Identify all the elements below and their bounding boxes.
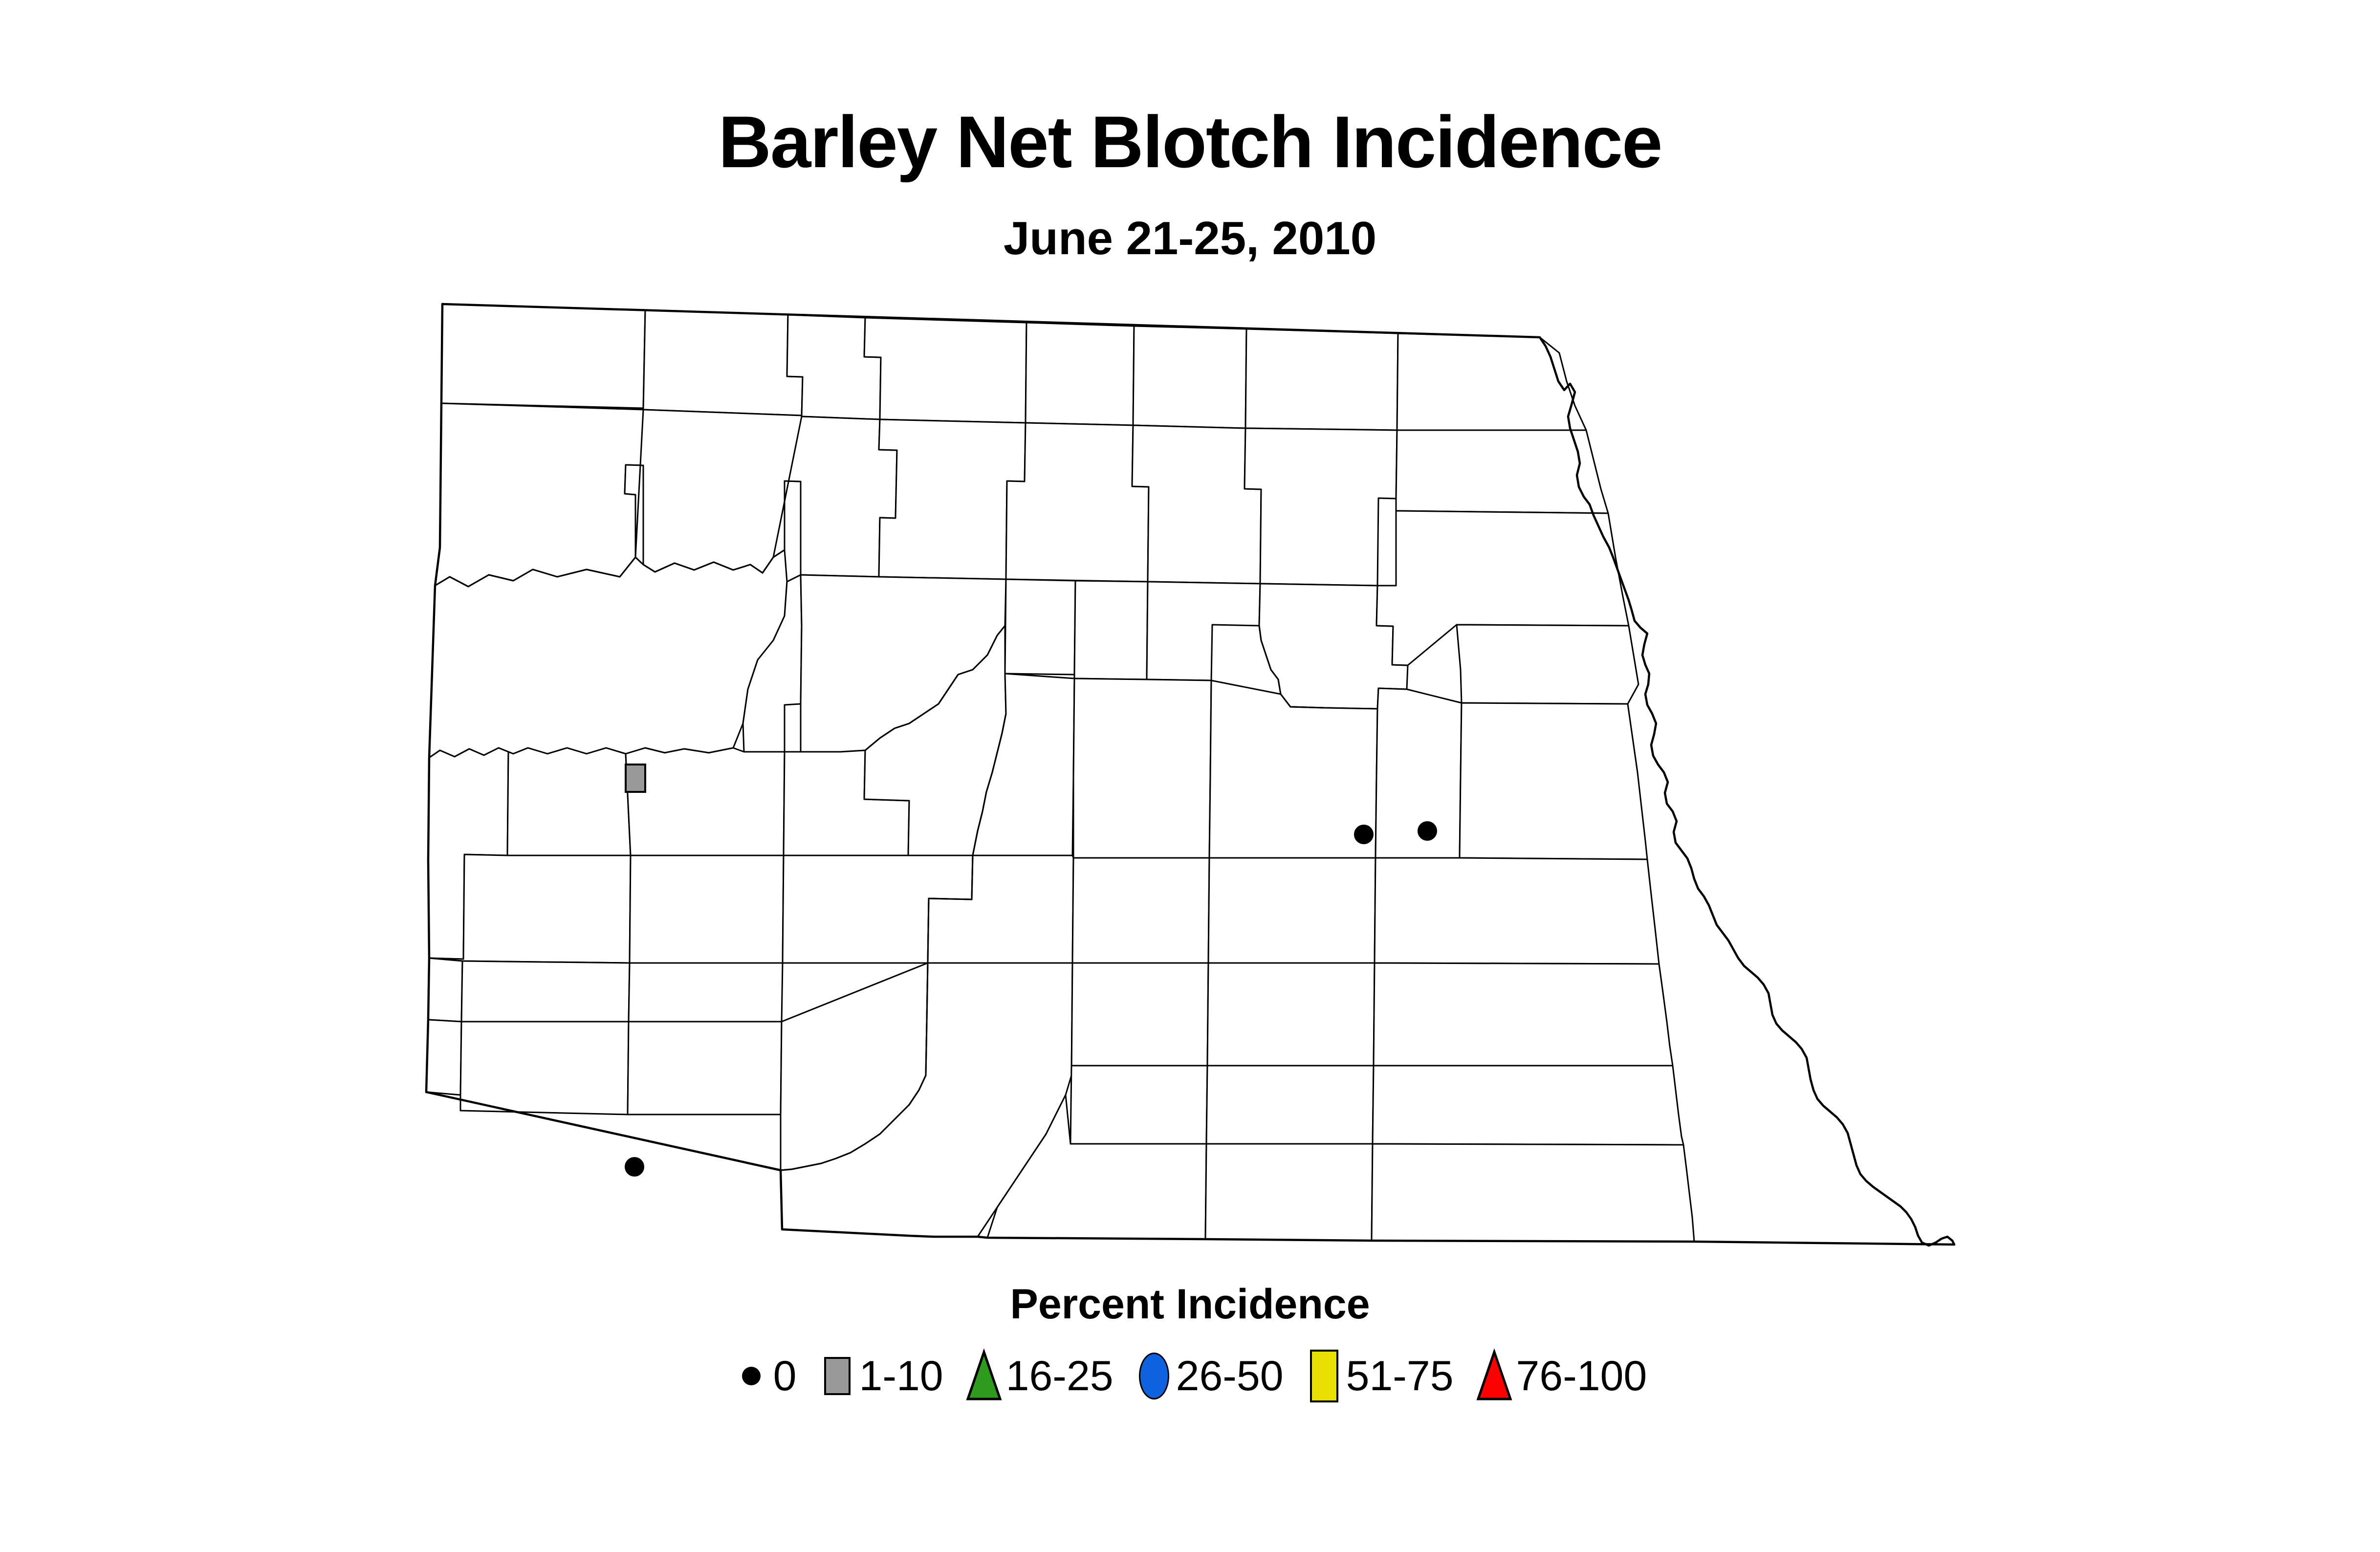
page-subtitle: June 21-25, 2010 [0,215,2380,262]
legend-triangle-icon [966,1350,1002,1402]
legend-item-label: 26-50 [1176,1355,1284,1397]
map-page: Barley Net Blotch Incidence June 21-25, … [0,0,2380,1552]
legend-square-icon [824,1357,851,1395]
map-marker-dot[interactable] [1354,825,1374,844]
legend-item-label: 0 [773,1355,797,1397]
legend-triangle-icon [1476,1350,1512,1402]
legend-item-26-50[interactable]: 26-50 [1136,1347,1284,1405]
legend-item-0[interactable]: 0 [733,1347,797,1405]
north-dakota-county-map[interactable] [371,284,1994,1266]
county-polygons [426,304,1694,1242]
legend-item-76-100[interactable]: 76-100 [1476,1347,1647,1405]
legend-circle-icon [742,1367,761,1385]
legend-item-51-75[interactable]: 51-75 [1306,1347,1454,1405]
legend-item-label: 51-75 [1346,1355,1454,1397]
map-svg [371,284,1994,1266]
legend: 01-1016-2526-5051-7576-100 [0,1347,2380,1405]
map-marker-square[interactable] [625,764,646,793]
legend-rectangle-icon [1310,1350,1338,1402]
legend-item-label: 76-100 [1516,1355,1647,1397]
legend-title: Percent Incidence [0,1283,2380,1325]
legend-item-label: 1-10 [859,1355,943,1397]
map-marker-dot[interactable] [1418,821,1437,841]
legend-ellipse-icon [1139,1353,1169,1399]
page-title: Barley Net Blotch Incidence [0,105,2380,178]
legend-item-1-10[interactable]: 1-10 [819,1347,943,1405]
legend-item-16-25[interactable]: 16-25 [966,1347,1114,1405]
legend-item-label: 16-25 [1006,1355,1114,1397]
map-marker-dot[interactable] [625,1157,644,1177]
